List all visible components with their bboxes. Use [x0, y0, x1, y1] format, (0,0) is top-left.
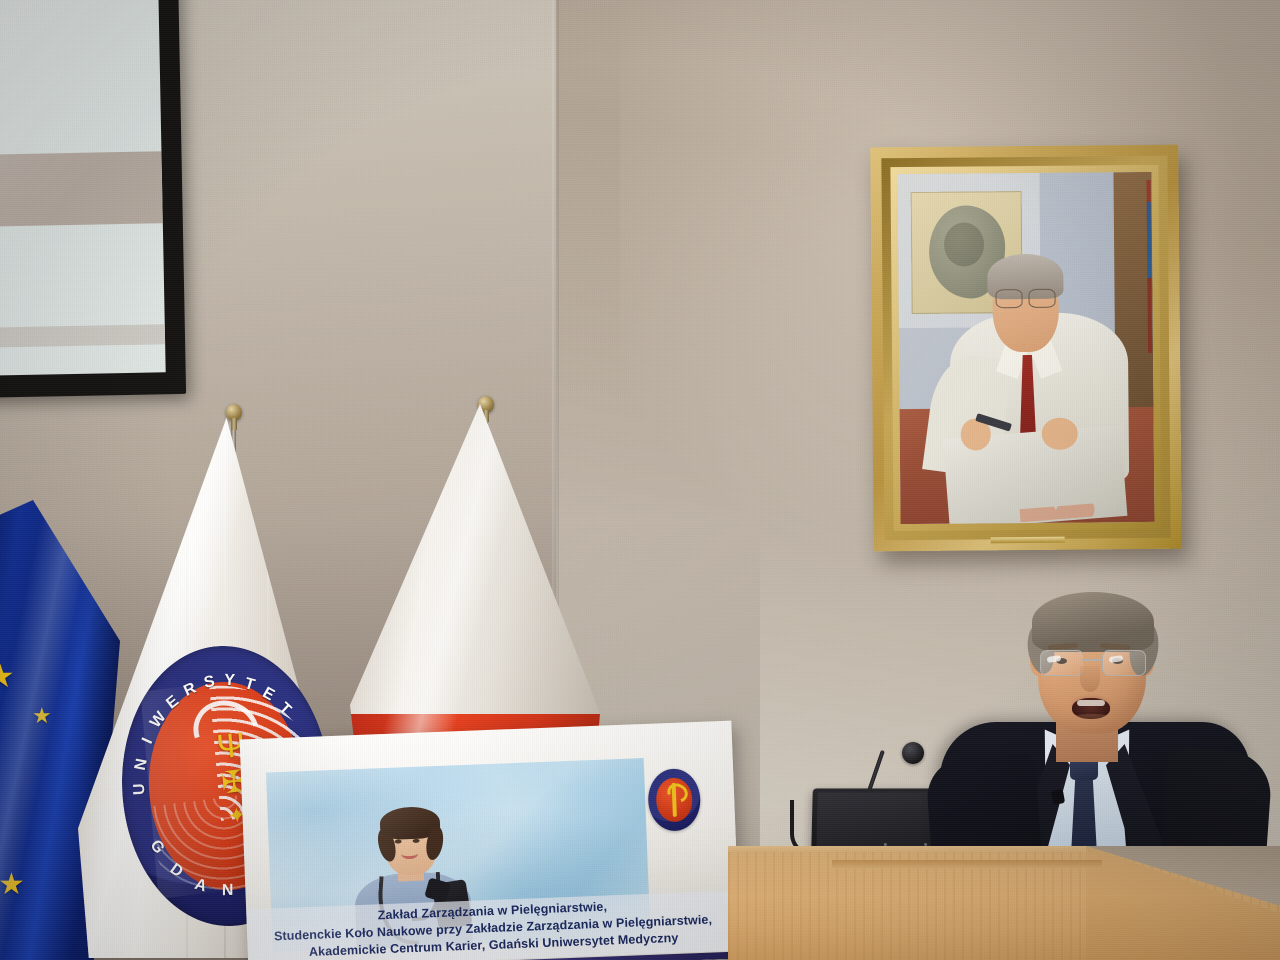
seal-letter: T: [242, 675, 257, 695]
event-poster: Zakład Zarządzania w Pielęgniarstwie, St…: [240, 721, 741, 960]
glasses-bridge: [1082, 659, 1104, 661]
glasses-lens-left: [1040, 650, 1084, 676]
projection-screen-band: [0, 151, 163, 226]
glasses-glint: [1047, 655, 1062, 663]
presenter-teeth: [1077, 700, 1105, 706]
seal-letter: Y: [224, 672, 236, 690]
seal-letter: S: [203, 673, 217, 693]
seal-letter: E: [259, 684, 277, 705]
microphone-head-icon: [902, 742, 924, 764]
glasses-glint: [1109, 655, 1124, 663]
flagpole-finial-university: [226, 404, 242, 421]
portrait-varnish-sheen: [897, 172, 1154, 524]
seal-letter: R: [181, 680, 199, 701]
projection-screen: [0, 0, 186, 398]
poster-gumed-seal-icon: [647, 768, 701, 832]
glasses-lens-right: [1102, 650, 1146, 676]
lectern-front-lip: [832, 860, 1102, 869]
clip-microphone-icon: [1051, 789, 1065, 805]
seal-letter: G: [146, 837, 168, 858]
seal-letter: N: [222, 882, 234, 900]
seal-letter: A: [192, 876, 209, 897]
seal-letter: W: [147, 709, 170, 732]
conference-photo: ★ ★ ★ ★ Ψ ✠ ✦ UNIWERSYTETMGDANSKI: [0, 0, 1280, 960]
presenter-nose: [1080, 666, 1100, 692]
presenter-hair: [1032, 592, 1154, 652]
framed-portrait: [870, 145, 1182, 552]
portrait-canvas: [897, 172, 1154, 524]
portrait-name-plate: [991, 537, 1065, 544]
projection-screen-sheen: [0, 0, 166, 376]
presenter-chin: [1062, 714, 1122, 732]
seal-letter: U: [131, 783, 149, 796]
projection-screen-surface: [0, 0, 166, 376]
seal-letter: E: [163, 693, 182, 714]
projection-screen-band-lower: [0, 324, 165, 348]
seal-letter: T: [275, 700, 294, 720]
seal-letter: N: [132, 757, 152, 772]
seal-letter: I: [139, 735, 157, 746]
seal-letter: D: [166, 860, 186, 881]
